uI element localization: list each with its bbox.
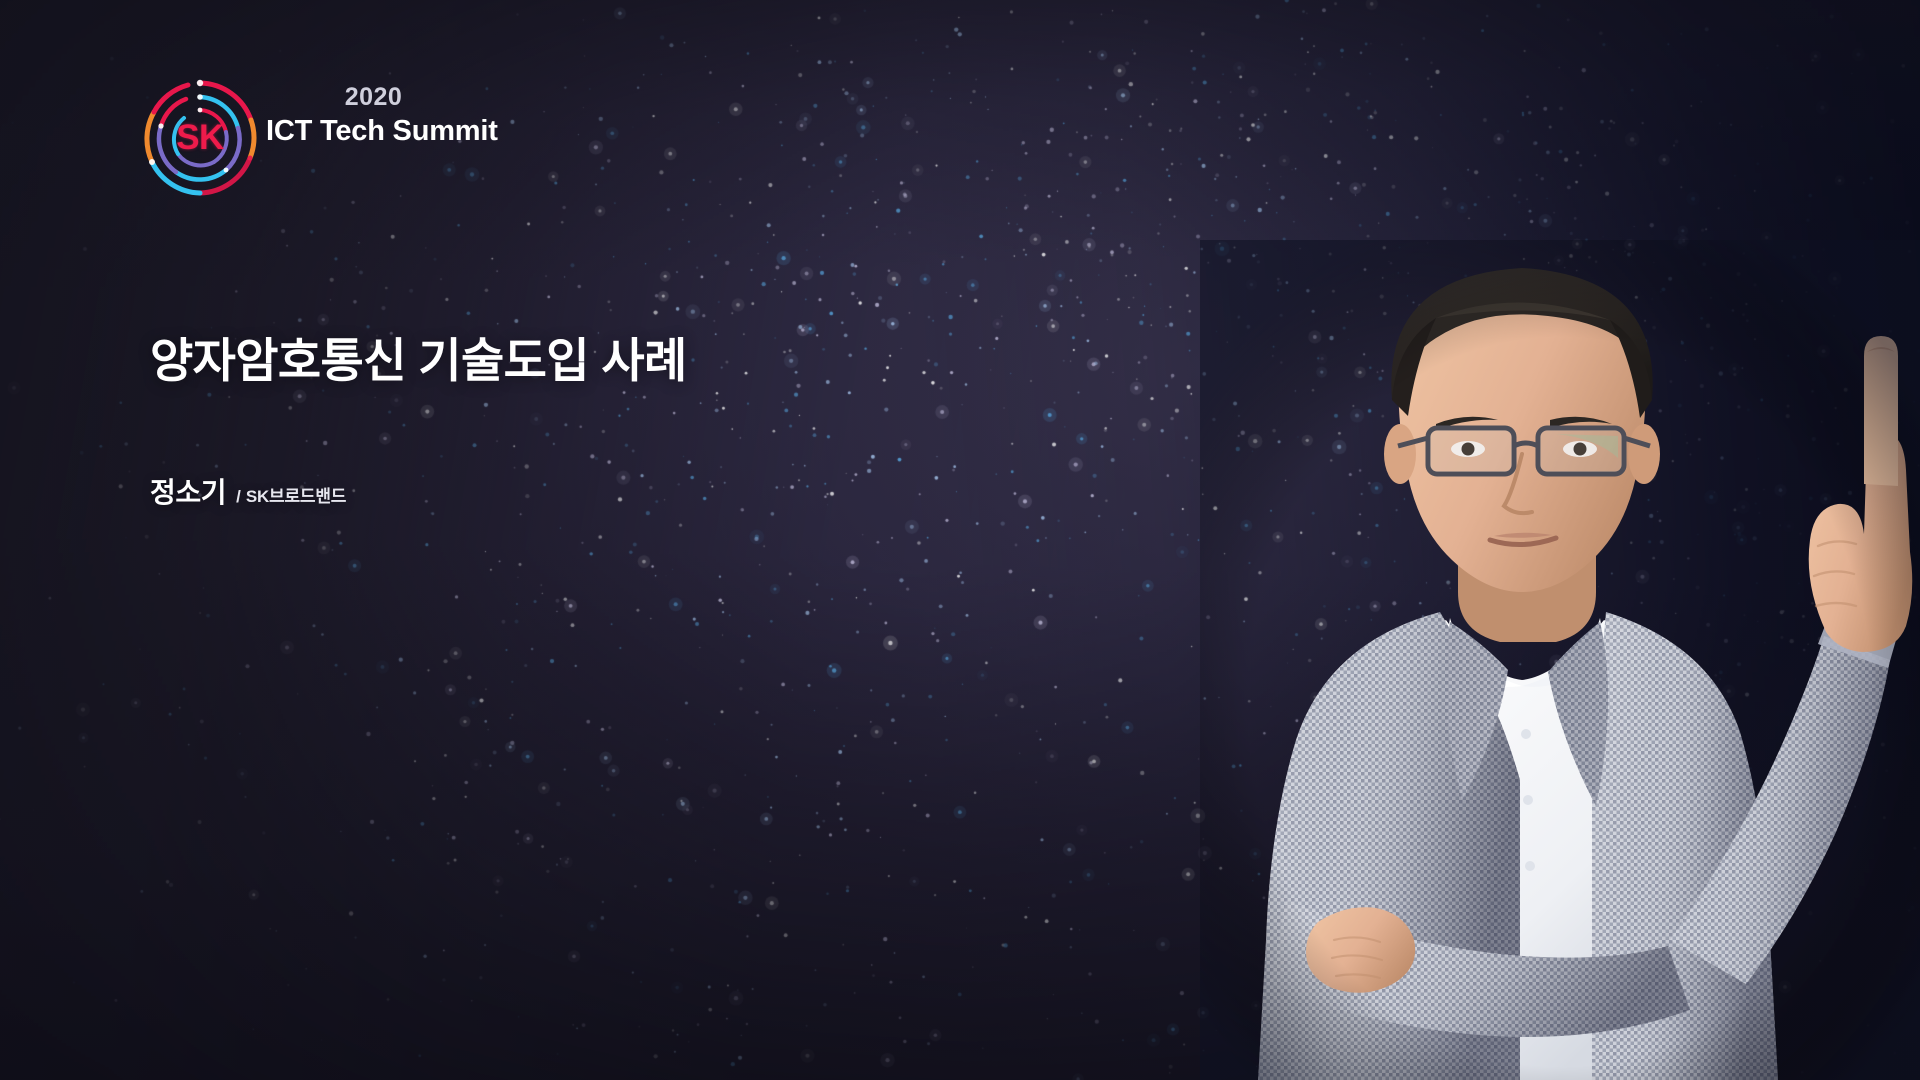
byline-separator: / <box>236 487 241 507</box>
byline: 정소기 / SK브로드밴드 <box>150 471 346 511</box>
title-slide: SK 2020 ICT Tech Summit 양자암호통신 기술도입 사례 정… <box>0 0 1920 1080</box>
event-logo-text: 2020 ICT Tech Summit <box>266 84 516 148</box>
sk-wordmark: SK <box>138 76 262 200</box>
event-logo: SK 2020 ICT Tech Summit <box>138 76 518 196</box>
event-year: 2020 <box>266 84 481 112</box>
page-title: 양자암호통신 기술도입 사례 <box>150 322 687 391</box>
speaker-name: 정소기 <box>150 471 226 511</box>
speaker-organization: SK브로드밴드 <box>246 482 346 507</box>
event-name: ICT Tech Summit <box>266 115 516 148</box>
